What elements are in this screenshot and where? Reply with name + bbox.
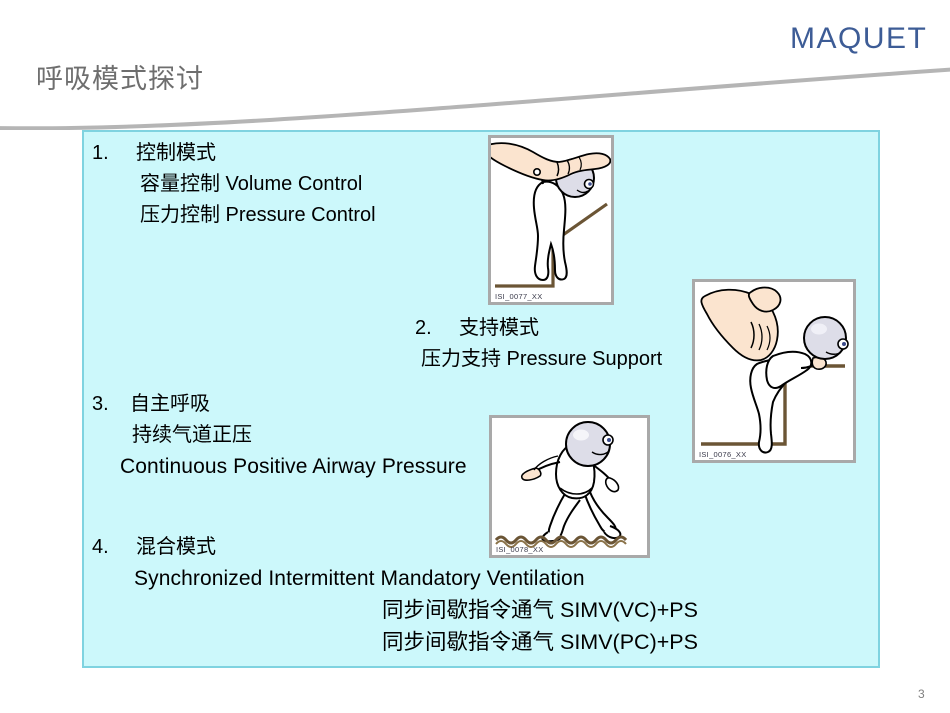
mode-group-2-heading: 支持模式 bbox=[459, 317, 539, 339]
mode-group-1: 1.控制模式 容量控制 Volume Control 压力控制 Pressure… bbox=[92, 138, 376, 231]
mode-group-4-line-2: 同步间歇指令通气 SIMV(VC)+PS bbox=[92, 594, 698, 626]
mode-group-3-heading: 自主呼吸 bbox=[130, 393, 210, 415]
slide-canvas: MAQUET 呼吸模式探讨 1.控制模式 容量控制 Volume Control… bbox=[0, 0, 950, 713]
illustration-label-2: ISI_0076_XX bbox=[699, 450, 747, 459]
illustration-label-3: ISI_0078_XX bbox=[496, 545, 544, 554]
mode-group-1-heading: 控制模式 bbox=[136, 142, 216, 164]
mode-group-3-number: 3. bbox=[92, 389, 130, 420]
mode-group-4-line-1: Synchronized Intermittent Mandatory Vent… bbox=[92, 563, 698, 594]
maquet-logo: MAQUET bbox=[790, 22, 927, 56]
mode-group-4-number: 4. bbox=[92, 532, 136, 563]
page-number: 3 bbox=[918, 687, 925, 701]
mode-group-2-line-1: 压力支持 Pressure Support bbox=[415, 344, 662, 375]
mode-group-1-line-2: 压力控制 Pressure Control bbox=[92, 200, 376, 231]
mode-group-4-heading: 混合模式 bbox=[136, 536, 216, 558]
mode-group-2-heading-row: 2.支持模式 bbox=[415, 313, 662, 344]
illustration-support-mode: ISI_0076_XX bbox=[692, 279, 856, 463]
illustration-label-1: ISI_0077_XX bbox=[495, 292, 543, 301]
header-curve-decoration bbox=[0, 58, 950, 130]
mode-group-3: 3.自主呼吸 持续气道正压 Continuous Positive Airway… bbox=[92, 389, 467, 482]
mode-group-2: 2.支持模式 压力支持 Pressure Support bbox=[415, 313, 662, 375]
mode-group-1-line-1: 容量控制 Volume Control bbox=[92, 169, 376, 200]
illustration-spontaneous-breathing: ISI_0078_XX bbox=[489, 415, 650, 558]
mode-group-3-line-2: Continuous Positive Airway Pressure bbox=[92, 451, 467, 482]
mode-group-1-number: 1. bbox=[92, 138, 136, 169]
mode-group-4-line-3: 同步间歇指令通气 SIMV(PC)+PS bbox=[92, 626, 698, 658]
illustration-control-mode: ISI_0077_XX bbox=[488, 135, 614, 305]
mode-group-2-number: 2. bbox=[415, 313, 459, 344]
mode-group-3-heading-row: 3.自主呼吸 bbox=[92, 389, 467, 420]
mode-group-1-heading-row: 1.控制模式 bbox=[92, 138, 376, 169]
mode-group-3-line-1: 持续气道正压 bbox=[92, 420, 467, 451]
